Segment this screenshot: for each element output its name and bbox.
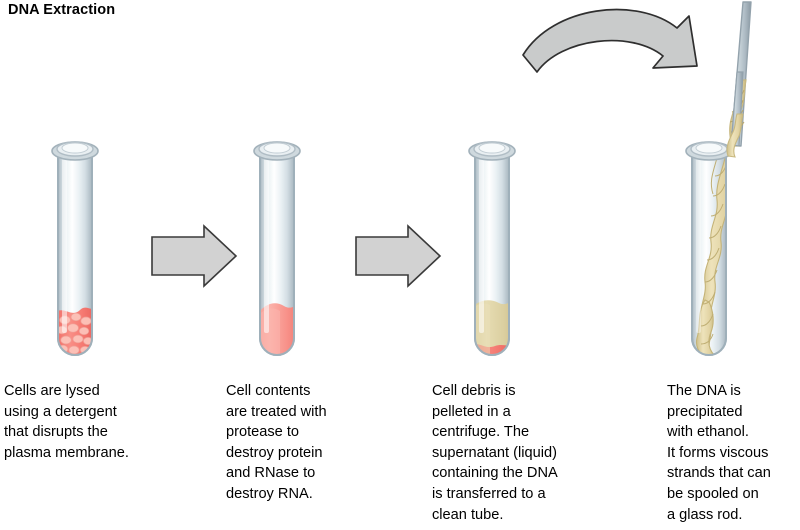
arrow-step1-to-step2 — [148, 0, 243, 375]
caption-step-4: The DNA is precipitated with ethanol. It… — [667, 381, 800, 525]
step-1-illustration — [38, 0, 148, 375]
caption-step-3: Cell debris is pelleted in a centrifuge.… — [432, 381, 647, 525]
arrow-step2-to-step3 — [352, 0, 447, 375]
test-tube-cells-icon — [38, 0, 148, 375]
dna-extraction-figure: DNA Extraction — [0, 0, 800, 530]
step-4-illustration — [665, 0, 800, 375]
step-2-illustration — [240, 0, 350, 375]
caption-step-1: Cells are lysed using a detergent that d… — [4, 381, 204, 463]
caption-step-2: Cell contents are treated with protease … — [226, 381, 431, 505]
test-tube-lysate-icon — [240, 0, 350, 375]
test-tube-dna-spool-icon — [665, 0, 800, 375]
